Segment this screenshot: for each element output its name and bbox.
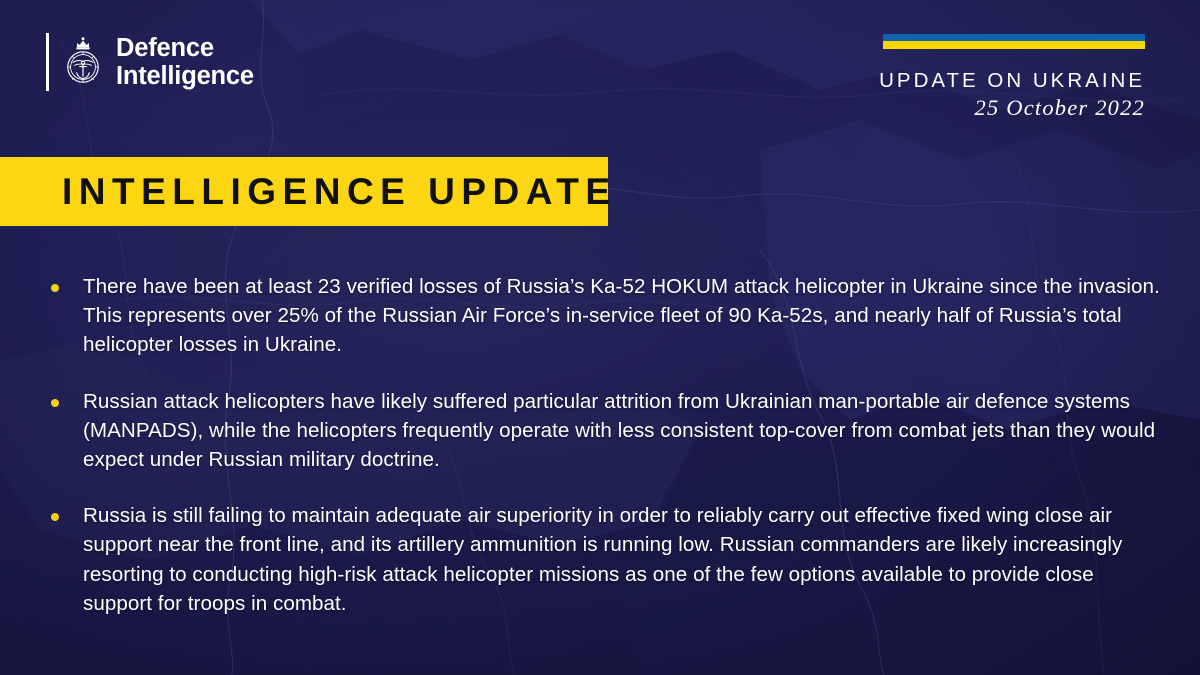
bullet-dot-icon — [51, 284, 59, 292]
bullet-list: There have been at least 23 verified los… — [50, 272, 1165, 618]
bullet-dot-icon — [51, 513, 59, 521]
flag-stripe-blue — [883, 34, 1145, 41]
bullet-dot-icon — [51, 399, 59, 407]
defence-intelligence-brand: Defence Intelligence — [46, 33, 254, 91]
header-right-block: UPDATE ON UKRAINE 25 October 2022 — [879, 34, 1145, 122]
ukraine-flag-bar-icon — [883, 34, 1145, 49]
poster-header: Defence Intelligence UPDATE ON UKRAINE 2… — [0, 0, 1200, 150]
banner-title: INTELLIGENCE UPDATE — [0, 171, 617, 213]
list-item: There have been at least 23 verified los… — [50, 272, 1165, 360]
update-date: 25 October 2022 — [879, 94, 1145, 122]
intelligence-update-poster: Defence Intelligence UPDATE ON UKRAINE 2… — [0, 0, 1200, 675]
brand-name-line1: Defence — [116, 34, 254, 62]
flag-stripe-yellow — [883, 41, 1145, 49]
brand-wordmark: Defence Intelligence — [116, 34, 254, 90]
bullet-text: Russian attack helicopters have likely s… — [83, 387, 1165, 475]
bullet-text: Russia is still failing to maintain adeq… — [83, 501, 1165, 618]
brand-divider-rule — [46, 33, 49, 91]
list-item: Russian attack helicopters have likely s… — [50, 387, 1165, 475]
brand-name-line2: Intelligence — [116, 62, 254, 90]
update-kicker: UPDATE ON UKRAINE — [879, 68, 1145, 93]
intelligence-update-banner: INTELLIGENCE UPDATE — [0, 157, 608, 226]
bullet-text: There have been at least 23 verified los… — [83, 272, 1165, 360]
uk-defence-intelligence-crest-icon — [63, 35, 103, 89]
list-item: Russia is still failing to maintain adeq… — [50, 501, 1165, 618]
